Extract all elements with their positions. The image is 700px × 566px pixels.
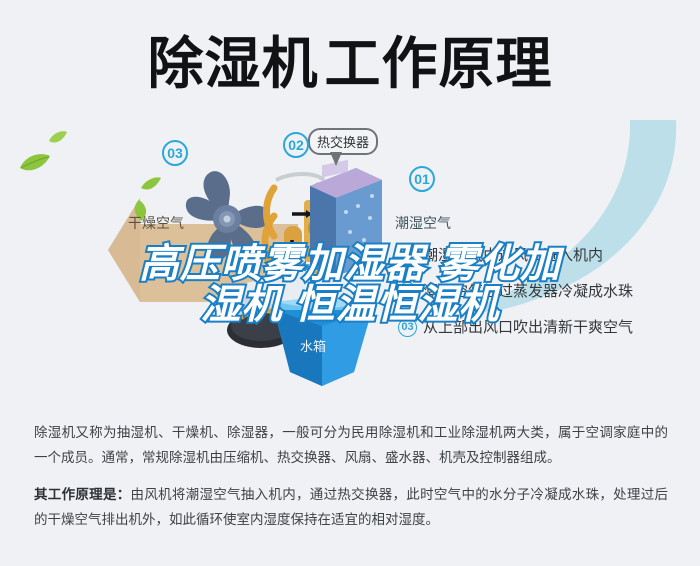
title-main: 除湿机 <box>148 32 319 95</box>
step-text: 潮湿空气由进风口进入机内 <box>423 246 603 266</box>
list-item: 02 潮湿空气经过蒸发器冷凝成水珠 <box>398 282 694 302</box>
callout-tail-icon <box>330 152 342 166</box>
page-root: 除湿机工作原理 <box>0 0 700 566</box>
leaf-icon <box>48 130 68 145</box>
dehumidifier-principle-diagram: 热交换器 03 02 01 干燥空气 潮湿空气 水箱 压缩机 01 潮湿空气由进… <box>0 118 700 396</box>
title-emphasis: 工作原理 <box>319 32 553 95</box>
label-dry-air: 干燥空气 <box>128 213 184 233</box>
article-body: 除湿机又称为抽湿机、干燥机、除湿器，一般可分为民用除湿机和工业除湿机两大类，属于… <box>34 420 668 544</box>
step-number: 02 <box>398 282 417 301</box>
step-text: 潮湿空气经过蒸发器冷凝成水珠 <box>423 282 633 302</box>
leaf-icon <box>18 152 52 174</box>
diagram-badge-01: 01 <box>409 166 435 192</box>
page-title: 除湿机工作原理 <box>0 24 700 104</box>
label-water-tank: 水箱 <box>300 336 326 355</box>
callout-label: 热交换器 <box>317 135 369 150</box>
list-item: 03 从上部出风口吹出清新干爽空气 <box>398 318 694 338</box>
paragraph-1: 除湿机又称为抽湿机、干燥机、除湿器，一般可分为民用除湿机和工业除湿机两大类，属于… <box>34 420 668 470</box>
label-compressor: 压缩机 <box>266 266 296 281</box>
label-humid-air: 潮湿空气 <box>395 213 451 233</box>
diagram-badge-03: 03 <box>162 140 188 166</box>
heat-exchanger-callout: 热交换器 <box>308 128 378 155</box>
step-number: 03 <box>398 318 417 337</box>
paragraph-2-label: 其工作原理是： <box>34 487 131 502</box>
step-text: 从上部出风口吹出清新干爽空气 <box>423 318 633 338</box>
heat-exchanger-block <box>300 156 386 286</box>
leaf-icon <box>140 176 162 192</box>
step-number: 01 <box>398 246 417 265</box>
step-list: 01 潮湿空气由进风口进入机内 02 潮湿空气经过蒸发器冷凝成水珠 03 从上部… <box>398 246 694 354</box>
list-item: 01 潮湿空气由进风口进入机内 <box>398 246 694 266</box>
paragraph-2: 其工作原理是：由风机将潮湿空气抽入机内，通过热交换器，此时空气中的水分子冷凝成水… <box>34 482 668 532</box>
diagram-badge-02: 02 <box>283 132 309 158</box>
